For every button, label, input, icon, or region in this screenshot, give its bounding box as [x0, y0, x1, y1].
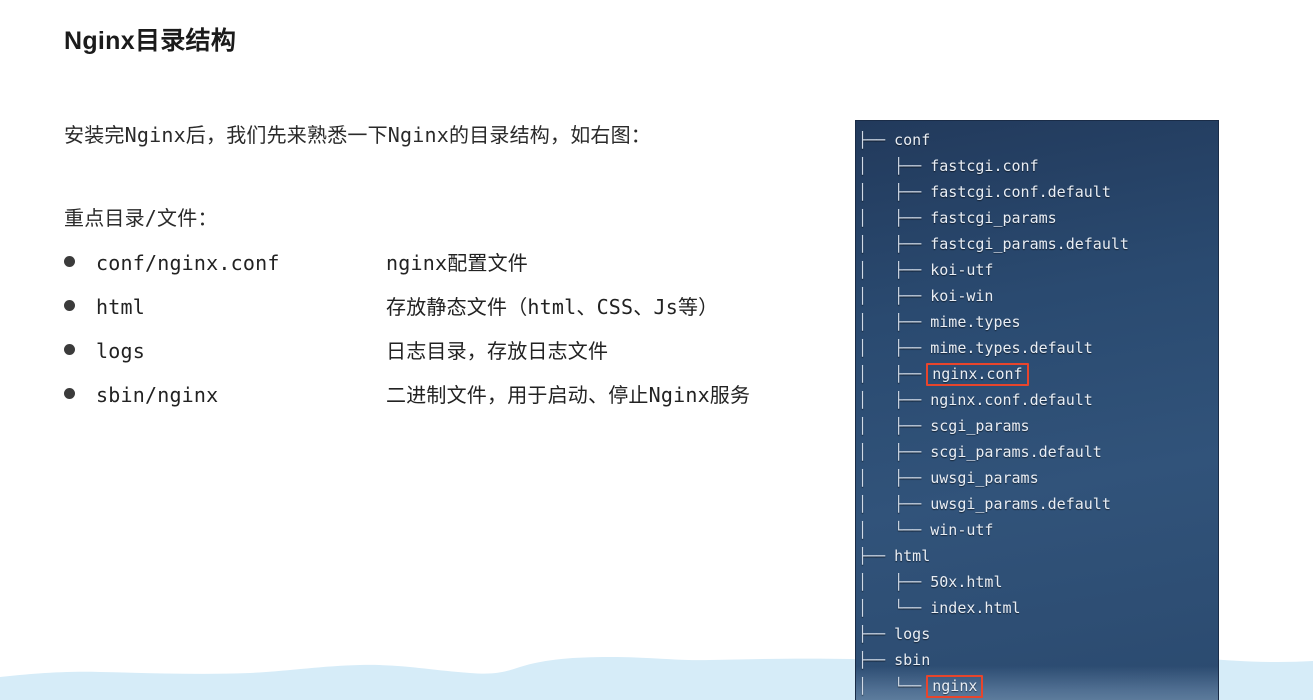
tree-entry: conf	[894, 127, 930, 153]
bullet-description: nginx配置文件	[386, 247, 834, 276]
tree-row: │ ├── scgi_params	[858, 413, 1218, 439]
bullet-path: logs	[96, 339, 386, 363]
bullet-dot-icon	[64, 388, 75, 399]
tree-row: │ ├── koi-utf	[858, 257, 1218, 283]
tree-entry: index.html	[930, 595, 1020, 621]
slide-root: Nginx目录结构 安装完Nginx后，我们先来熟悉一下Nginx的目录结构，如…	[0, 0, 1313, 700]
tree-row: │ ├── fastcgi_params	[858, 205, 1218, 231]
tree-row: │ ├── mime.types.default	[858, 335, 1218, 361]
tree-branch-glyph: │ ├──	[858, 361, 930, 387]
page-title: Nginx目录结构	[64, 26, 834, 57]
bullet-dot-icon	[64, 256, 75, 267]
tree-row: │ ├── fastcgi.conf	[858, 153, 1218, 179]
tree-entry: logs	[894, 621, 930, 647]
bullet-path: conf/nginx.conf	[96, 251, 386, 275]
content-column: Nginx目录结构 安装完Nginx后，我们先来熟悉一下Nginx的目录结构，如…	[64, 26, 834, 423]
tree-row: ├── html	[858, 543, 1218, 569]
tree-branch-glyph: │ ├──	[858, 205, 930, 231]
tree-branch-glyph: │ └──	[858, 517, 930, 543]
tree-branch-glyph: │ └──	[858, 595, 930, 621]
bullet-path: sbin/nginx	[96, 383, 386, 407]
tree-entry: fastcgi.conf.default	[930, 179, 1111, 205]
tree-row: │ ├── fastcgi_params.default	[858, 231, 1218, 257]
tree-entry: mime.types.default	[930, 335, 1093, 361]
bullet-dot-icon	[64, 300, 75, 311]
tree-entry: fastcgi_params.default	[930, 231, 1129, 257]
tree-entry: uwsgi_params	[930, 465, 1038, 491]
tree-row: │ ├── scgi_params.default	[858, 439, 1218, 465]
tree-row: ├── sbin	[858, 647, 1218, 673]
bullet-description: 存放静态文件（html、CSS、Js等）	[386, 291, 834, 320]
tree-row: │ ├── uwsgi_params	[858, 465, 1218, 491]
tree-branch-glyph: ├──	[858, 647, 894, 673]
tree-entry: nginx.conf.default	[930, 387, 1093, 413]
tree-entry: koi-win	[930, 283, 993, 309]
tree-entry: koi-utf	[930, 257, 993, 283]
tree-entry-highlighted: nginx	[926, 675, 983, 698]
tree-row: │ ├── 50x.html	[858, 569, 1218, 595]
tree-branch-glyph: │ ├──	[858, 569, 930, 595]
bullet-row: html存放静态文件（html、CSS、Js等）	[64, 291, 834, 335]
tree-row: │ ├── nginx.conf	[858, 361, 1218, 387]
tree-entry: scgi_params	[930, 413, 1029, 439]
tree-row: ├── logs	[858, 621, 1218, 647]
tree-branch-glyph: │ ├──	[858, 335, 930, 361]
tree-branch-glyph: │ ├──	[858, 231, 930, 257]
tree-entry: scgi_params.default	[930, 439, 1102, 465]
bullet-list: conf/nginx.confnginx配置文件html存放静态文件（html、…	[64, 247, 834, 423]
directory-tree: ├── conf│ ├── fastcgi.conf│ ├── fastcgi.…	[856, 121, 1218, 699]
section-label: 重点目录/文件：	[64, 202, 834, 231]
tree-branch-glyph: │ ├──	[858, 413, 930, 439]
tree-entry: fastcgi.conf	[930, 153, 1038, 179]
tree-branch-glyph: ├──	[858, 127, 894, 153]
tree-entry: html	[894, 543, 930, 569]
tree-entry: uwsgi_params.default	[930, 491, 1111, 517]
tree-branch-glyph: │ └──	[858, 673, 930, 699]
bullet-description: 日志目录，存放日志文件	[386, 335, 834, 364]
bullet-dot-icon	[64, 344, 75, 355]
tree-entry: sbin	[894, 647, 930, 673]
tree-row: │ └── win-utf	[858, 517, 1218, 543]
tree-branch-glyph: │ ├──	[858, 491, 930, 517]
bullet-row: logs日志目录，存放日志文件	[64, 335, 834, 379]
bullet-row: conf/nginx.confnginx配置文件	[64, 247, 834, 291]
tree-entry: 50x.html	[930, 569, 1002, 595]
tree-branch-glyph: ├──	[858, 543, 894, 569]
tree-row: │ ├── mime.types	[858, 309, 1218, 335]
tree-row: │ ├── nginx.conf.default	[858, 387, 1218, 413]
tree-entry-highlighted: nginx.conf	[926, 363, 1028, 386]
terminal-screenshot: ├── conf│ ├── fastcgi.conf│ ├── fastcgi.…	[856, 121, 1218, 700]
intro-paragraph: 安装完Nginx后，我们先来熟悉一下Nginx的目录结构，如右图：	[64, 119, 834, 148]
bullet-description: 二进制文件，用于启动、停止Nginx服务	[386, 379, 834, 408]
tree-row: │ ├── fastcgi.conf.default	[858, 179, 1218, 205]
tree-branch-glyph: │ ├──	[858, 439, 930, 465]
tree-branch-glyph: │ ├──	[858, 387, 930, 413]
tree-row: │ └── index.html	[858, 595, 1218, 621]
tree-branch-glyph: │ ├──	[858, 309, 930, 335]
tree-branch-glyph: │ ├──	[858, 465, 930, 491]
tree-row: │ ├── uwsgi_params.default	[858, 491, 1218, 517]
tree-branch-glyph: │ ├──	[858, 153, 930, 179]
tree-entry: mime.types	[930, 309, 1020, 335]
bullet-path: html	[96, 295, 386, 319]
tree-entry: fastcgi_params	[930, 205, 1056, 231]
tree-row: │ ├── koi-win	[858, 283, 1218, 309]
tree-branch-glyph: │ ├──	[858, 179, 930, 205]
tree-row: │ └── nginx	[858, 673, 1218, 699]
tree-branch-glyph: │ ├──	[858, 283, 930, 309]
tree-branch-glyph: │ ├──	[858, 257, 930, 283]
bullet-row: sbin/nginx二进制文件，用于启动、停止Nginx服务	[64, 379, 834, 423]
tree-entry: win-utf	[930, 517, 993, 543]
tree-branch-glyph: ├──	[858, 621, 894, 647]
tree-row: ├── conf	[858, 127, 1218, 153]
